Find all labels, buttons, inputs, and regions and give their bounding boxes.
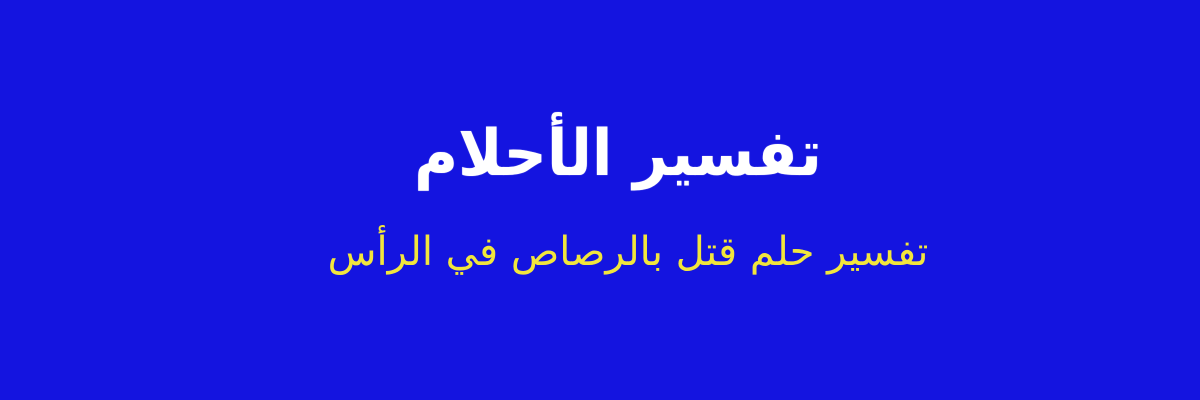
- page-subtitle: تفسير حلم قتل بالرصاص في الرأس: [328, 227, 929, 277]
- page-subtitle-container: تفسير حلم قتل بالرصاص في الرأس: [0, 222, 1200, 282]
- page-title: تفسير الأحلام: [414, 121, 822, 188]
- dream-interpretation-banner: تفسير الأحلام تفسير حلم قتل بالرصاص في ا…: [0, 0, 1200, 400]
- page-title-container: تفسير الأحلام: [0, 104, 1200, 204]
